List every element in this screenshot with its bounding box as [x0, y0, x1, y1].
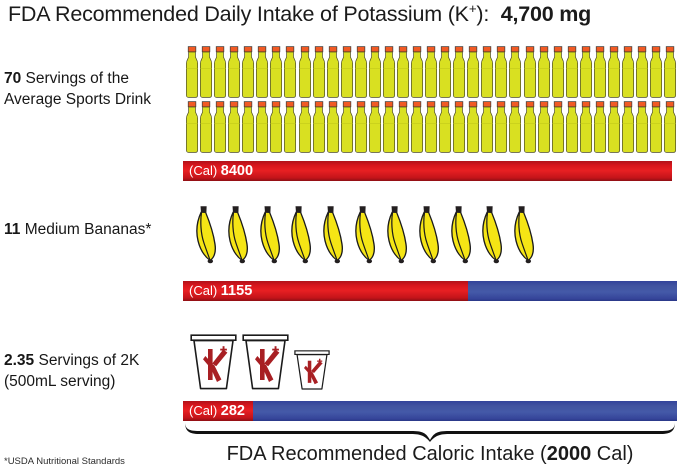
sports-drink-bottle-icon	[312, 101, 326, 153]
k-plus-cup-icon	[242, 334, 289, 390]
sports-drink-bottle-icon	[283, 46, 297, 98]
sports-drink-bottle-icon	[466, 46, 480, 98]
sports-drink-bottle-icon	[452, 46, 466, 98]
sports-drink-bottle-icon	[227, 101, 241, 153]
sports-drink-bottle-icon	[410, 101, 424, 153]
sports-drink-count: 70	[4, 70, 21, 87]
calorie-label-bananas: (Cal) 1155	[189, 284, 252, 299]
sports-drink-bottle-icon	[368, 46, 382, 98]
sports-drink-bottle-icon	[649, 101, 663, 153]
calorie-bar-blue-segment	[253, 401, 677, 421]
sports-drink-bottle-icon	[621, 101, 635, 153]
sports-drink-bottle-icon	[340, 101, 354, 153]
title-prefix: FDA Recommended Daily Intake of Potassiu…	[8, 2, 469, 26]
k-plus-cup-icon	[190, 334, 237, 390]
sports-drink-bottle-icon	[241, 101, 255, 153]
k-plus-cup-row	[190, 334, 340, 390]
sports-drink-bottle-icon	[354, 46, 368, 98]
sports-drink-bottle-icon	[241, 46, 255, 98]
sports-drink-bottle-icon	[565, 101, 579, 153]
banana-icon	[254, 203, 286, 265]
sports-drink-bottle-icon	[199, 46, 213, 98]
sports-drink-bottle-icon	[480, 101, 494, 153]
cal-word: (Cal)	[189, 283, 217, 298]
sports-drink-bottle-icon	[579, 101, 593, 153]
sports-drink-bottle-row-1	[185, 46, 677, 98]
banana-icon-row	[190, 203, 540, 265]
banana-icon	[317, 203, 349, 265]
sports-drink-bottle-icon	[649, 46, 663, 98]
banana-icon	[190, 203, 222, 265]
banana-icon	[285, 203, 317, 265]
sports-drink-bottle-icon	[579, 46, 593, 98]
sports-drink-bottle-icon	[452, 101, 466, 153]
sports-drink-bottle-icon	[312, 46, 326, 98]
2k-label-line1: Servings of 2K	[34, 352, 139, 369]
sports-drink-label-line1: Servings of the	[21, 70, 129, 87]
sports-drink-bottle-icon	[537, 46, 551, 98]
cal-word: (Cal)	[189, 403, 217, 418]
sports-drink-bottle-icon	[537, 101, 551, 153]
sports-drink-bottle-icon	[283, 101, 297, 153]
sports-drink-bottle-icon	[368, 101, 382, 153]
sports-drink-label-line2: Average Sports Drink	[4, 91, 151, 108]
sports-drink-bottle-icon	[326, 46, 340, 98]
banana-count: 11	[4, 221, 20, 238]
row-label-sports-drink: 70 Servings of the Average Sports Drink	[4, 68, 180, 110]
sports-drink-bottle-icon	[551, 46, 565, 98]
caption-value: 2000	[547, 443, 592, 465]
sports-drink-bottle-icon	[298, 46, 312, 98]
sports-drink-bottle-icon	[326, 101, 340, 153]
sports-drink-bottle-icon	[508, 46, 522, 98]
sports-drink-bottle-icon	[551, 101, 565, 153]
sports-drink-bottle-icon	[621, 46, 635, 98]
sports-drink-bottle-icon	[607, 46, 621, 98]
sports-drink-bottle-icon	[255, 46, 269, 98]
calorie-bar-red-segment: (Cal) 282	[183, 401, 253, 421]
banana-icon	[349, 203, 381, 265]
sports-drink-bottle-icon	[340, 46, 354, 98]
calorie-bar-blue-segment	[468, 281, 677, 301]
sports-drink-bottle-icon	[396, 46, 410, 98]
banana-icon	[508, 203, 540, 265]
cal-value: 8400	[221, 163, 253, 179]
sports-drink-bottle-icon	[466, 101, 480, 153]
sports-drink-bottle-icon	[213, 46, 227, 98]
cal-word: (Cal)	[189, 163, 217, 178]
sports-drink-bottle-icon	[382, 46, 396, 98]
sports-drink-bottle-row-2	[185, 101, 677, 153]
sports-drink-bottle-icon	[438, 101, 452, 153]
sports-drink-bottle-icon	[410, 46, 424, 98]
calorie-bar-sports-drink: (Cal) 8400	[183, 161, 672, 181]
footnote: *USDA Nutritional Standards	[4, 456, 125, 467]
page-title: FDA Recommended Daily Intake of Potassiu…	[8, 2, 673, 27]
sports-drink-bottle-icon	[382, 101, 396, 153]
sports-drink-bottle-icon	[663, 46, 677, 98]
bottom-caption: FDA Recommended Caloric Intake (2000 Cal…	[183, 443, 677, 466]
sports-drink-bottle-icon	[227, 46, 241, 98]
sports-drink-bottle-icon	[255, 101, 269, 153]
sports-drink-bottle-icon	[185, 46, 199, 98]
sports-drink-bottle-icon	[494, 46, 508, 98]
row-label-2k-servings: 2.35 Servings of 2K (500mL serving)	[4, 350, 180, 392]
banana-icon	[222, 203, 254, 265]
sports-drink-bottle-icon	[523, 46, 537, 98]
sports-drink-bottle-icon	[424, 46, 438, 98]
sports-drink-bottle-icon	[269, 46, 283, 98]
sports-drink-bottle-icon	[438, 46, 452, 98]
sports-drink-bottle-icon	[508, 101, 522, 153]
sports-drink-bottle-icon	[663, 101, 677, 153]
sports-drink-bottle-icon	[607, 101, 621, 153]
calorie-bar-red-segment: (Cal) 1155	[183, 281, 468, 301]
cal-value: 1155	[221, 283, 252, 299]
down-brace-icon	[183, 420, 677, 442]
2k-count: 2.35	[4, 352, 34, 369]
sports-drink-bottle-icon	[185, 101, 199, 153]
calorie-bar-2k: (Cal) 282	[183, 401, 677, 421]
2k-label-line2: (500mL serving)	[4, 373, 115, 390]
sports-drink-bottle-icon	[424, 101, 438, 153]
potassium-infographic: FDA Recommended Daily Intake of Potassiu…	[0, 0, 679, 474]
sports-drink-bottle-icon	[213, 101, 227, 153]
k-plus-cup-icon	[294, 334, 330, 390]
sports-drink-bottle-icon	[565, 46, 579, 98]
sports-drink-bottle-icon	[523, 101, 537, 153]
cal-value: 282	[221, 403, 245, 419]
banana-icon	[476, 203, 508, 265]
sports-drink-bottle-icon	[354, 101, 368, 153]
sports-drink-bottle-icon	[635, 101, 649, 153]
sports-drink-bottle-icon	[593, 101, 607, 153]
sports-drink-bottle-icon	[480, 46, 494, 98]
banana-icon	[413, 203, 445, 265]
title-value: 4,700 mg	[501, 2, 591, 26]
sports-drink-bottle-icon	[494, 101, 508, 153]
caption-prefix: FDA Recommended Caloric Intake (	[227, 443, 547, 465]
calorie-bar-bananas: (Cal) 1155	[183, 281, 677, 301]
banana-icon	[381, 203, 413, 265]
calorie-bar-red-segment: (Cal) 8400	[183, 161, 672, 181]
sports-drink-bottle-icon	[298, 101, 312, 153]
sports-drink-bottle-icon	[396, 101, 410, 153]
row-label-bananas: 11 Medium Bananas*	[4, 219, 180, 240]
calorie-label-2k: (Cal) 282	[189, 404, 245, 419]
title-mid: ):	[476, 2, 489, 26]
caption-suffix: Cal)	[591, 443, 633, 465]
banana-label-line1: Medium Bananas*	[20, 221, 151, 238]
sports-drink-bottle-icon	[199, 101, 213, 153]
banana-icon	[445, 203, 477, 265]
sports-drink-bottle-icon	[593, 46, 607, 98]
calorie-label-sports-drink: (Cal) 8400	[189, 164, 253, 179]
sports-drink-bottle-icon	[269, 101, 283, 153]
sports-drink-bottle-icon	[635, 46, 649, 98]
